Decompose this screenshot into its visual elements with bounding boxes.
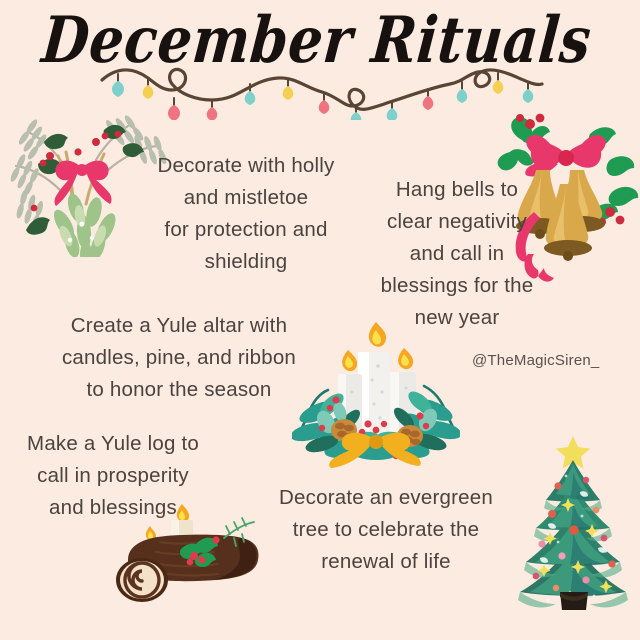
log-body xyxy=(116,535,258,602)
ritual-text-yule-log: Make a Yule log to call in prosperity an… xyxy=(2,428,224,524)
account-handle-watermark: @TheMagicSiren_ xyxy=(472,352,599,369)
christmas-tree-illustration xyxy=(512,432,634,612)
ritual-text-holly: Decorate with holly and mistletoe for pr… xyxy=(136,150,356,278)
ritual-text-evergreen-tree: Decorate an evergreen tree to celebrate … xyxy=(262,482,510,578)
ritual-text-altar: Create a Yule altar with candles, pine, … xyxy=(48,310,310,406)
ritual-text-bells: Hang bells to clear negativity and call … xyxy=(362,174,552,334)
december-rituals-graphic: December Rituals xyxy=(0,0,640,640)
tree-base xyxy=(560,592,588,610)
